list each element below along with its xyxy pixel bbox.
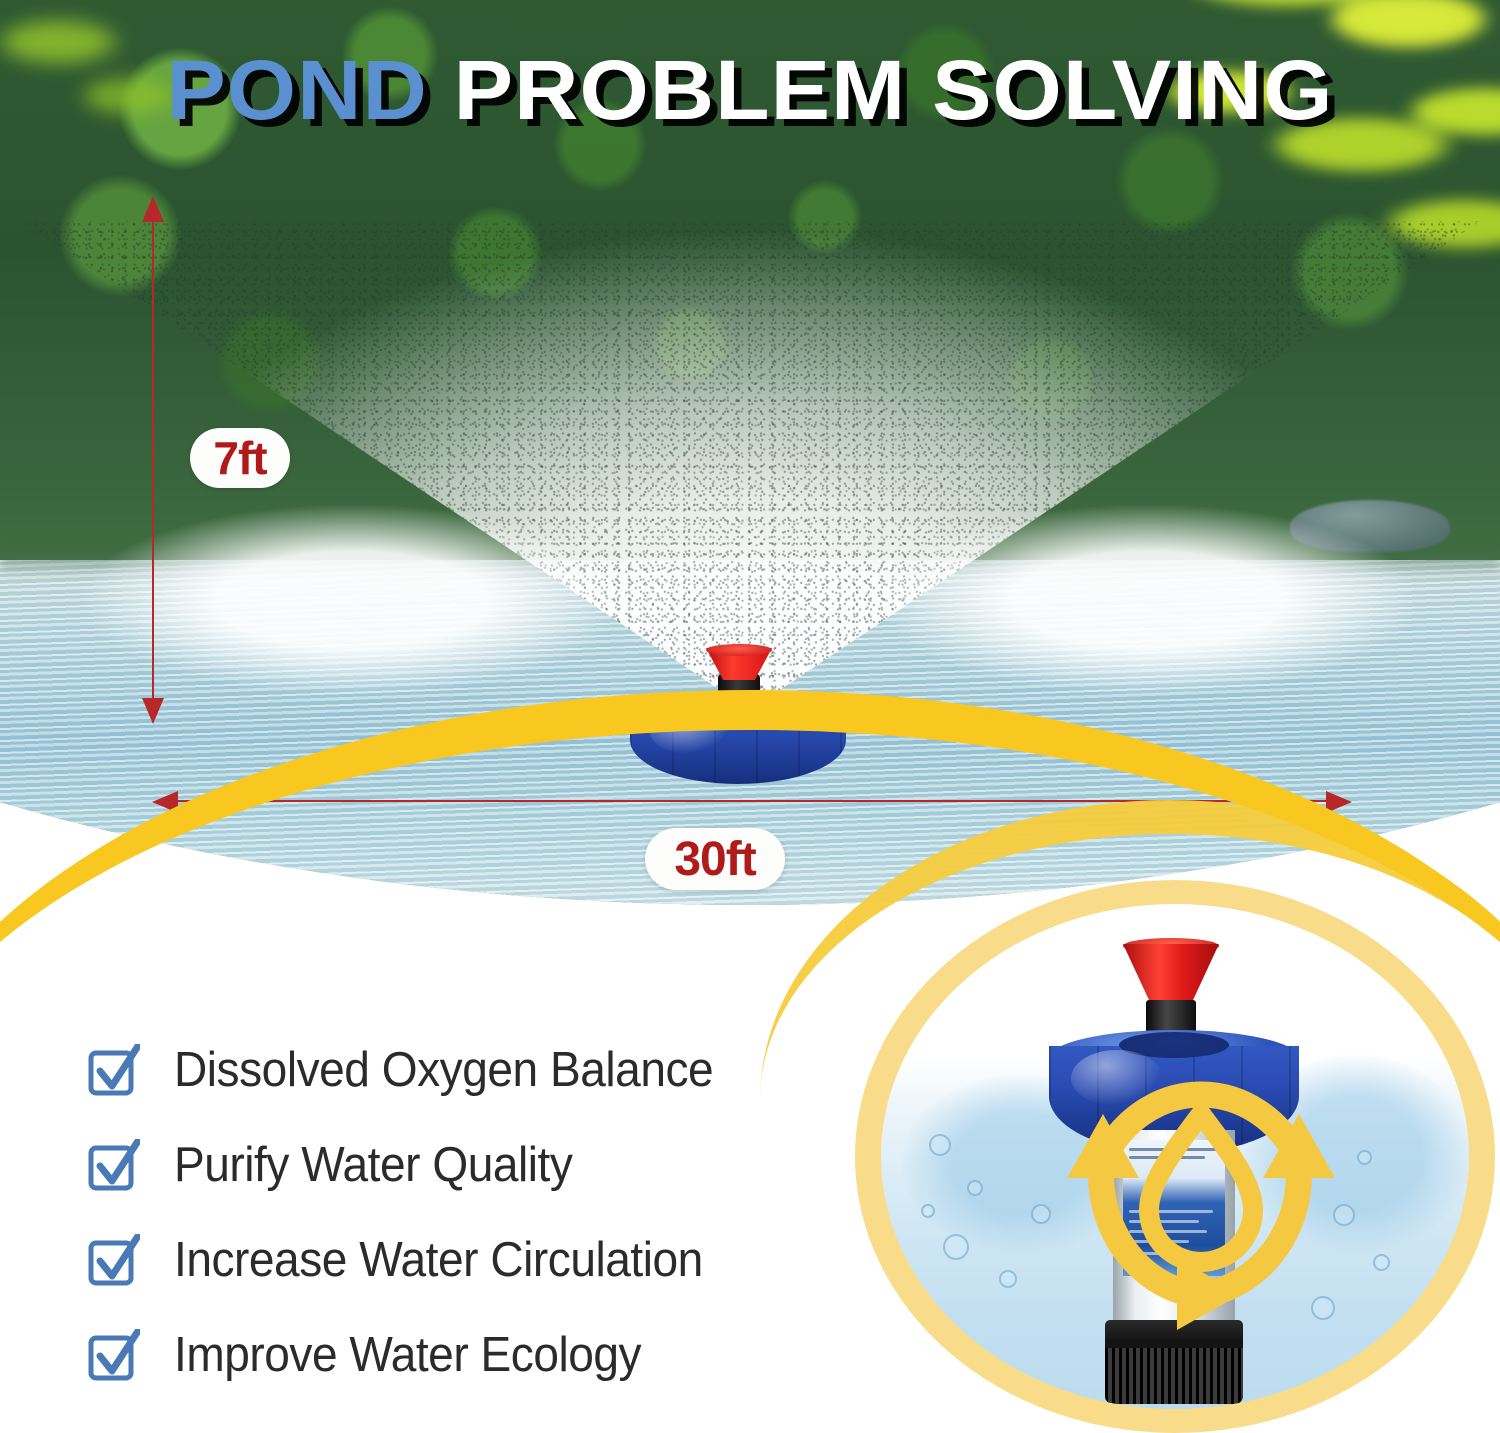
feature-label: Dissolved Oxygen Balance <box>174 1042 713 1098</box>
red-nozzle-lip <box>706 644 772 656</box>
height-measure-line <box>152 205 154 715</box>
checkbox-checked-icon <box>88 1139 140 1191</box>
bubble <box>921 1204 935 1218</box>
height-measure-label: 7ft <box>190 428 290 488</box>
checkbox-checked-icon <box>88 1329 140 1381</box>
list-item: Improve Water Ecology <box>88 1307 848 1402</box>
feature-label: Improve Water Ecology <box>174 1327 641 1383</box>
inset-float-highlight <box>1071 1050 1163 1106</box>
spray-mist-right <box>860 480 1500 710</box>
feature-label: Increase Water Circulation <box>174 1232 703 1288</box>
aerator-unit-inset <box>1041 934 1341 1404</box>
list-item: Increase Water Circulation <box>88 1212 848 1307</box>
list-item: Dissolved Oxygen Balance <box>88 1022 848 1117</box>
feature-list: Dissolved Oxygen Balance Purify Water Qu… <box>88 1022 848 1402</box>
bubble <box>943 1234 969 1260</box>
checkbox-checked-icon <box>88 1044 140 1096</box>
bubble <box>1373 1254 1390 1271</box>
bubble <box>999 1270 1017 1288</box>
checkbox-checked-icon <box>88 1234 140 1286</box>
inset-oval-interior <box>881 904 1469 1409</box>
inset-product-label <box>1123 1140 1225 1276</box>
spray-mist-left <box>0 480 640 710</box>
bubble <box>967 1180 983 1196</box>
inset-red-nozzle <box>1123 944 1219 1002</box>
bubble <box>1357 1150 1372 1165</box>
height-arrow-down-icon <box>142 698 164 724</box>
bubble <box>929 1134 951 1156</box>
inset-pump-base <box>1105 1320 1243 1404</box>
feature-label: Purify Water Quality <box>174 1137 572 1193</box>
title-highlight-word: POND <box>166 43 428 137</box>
list-item: Purify Water Quality <box>88 1117 848 1212</box>
product-closeup-inset <box>855 880 1495 1433</box>
height-arrow-up-icon <box>142 196 164 222</box>
title-rest: PROBLEM SOLVING <box>454 43 1334 137</box>
page-title: POND PROBLEM SOLVING <box>0 48 1500 132</box>
